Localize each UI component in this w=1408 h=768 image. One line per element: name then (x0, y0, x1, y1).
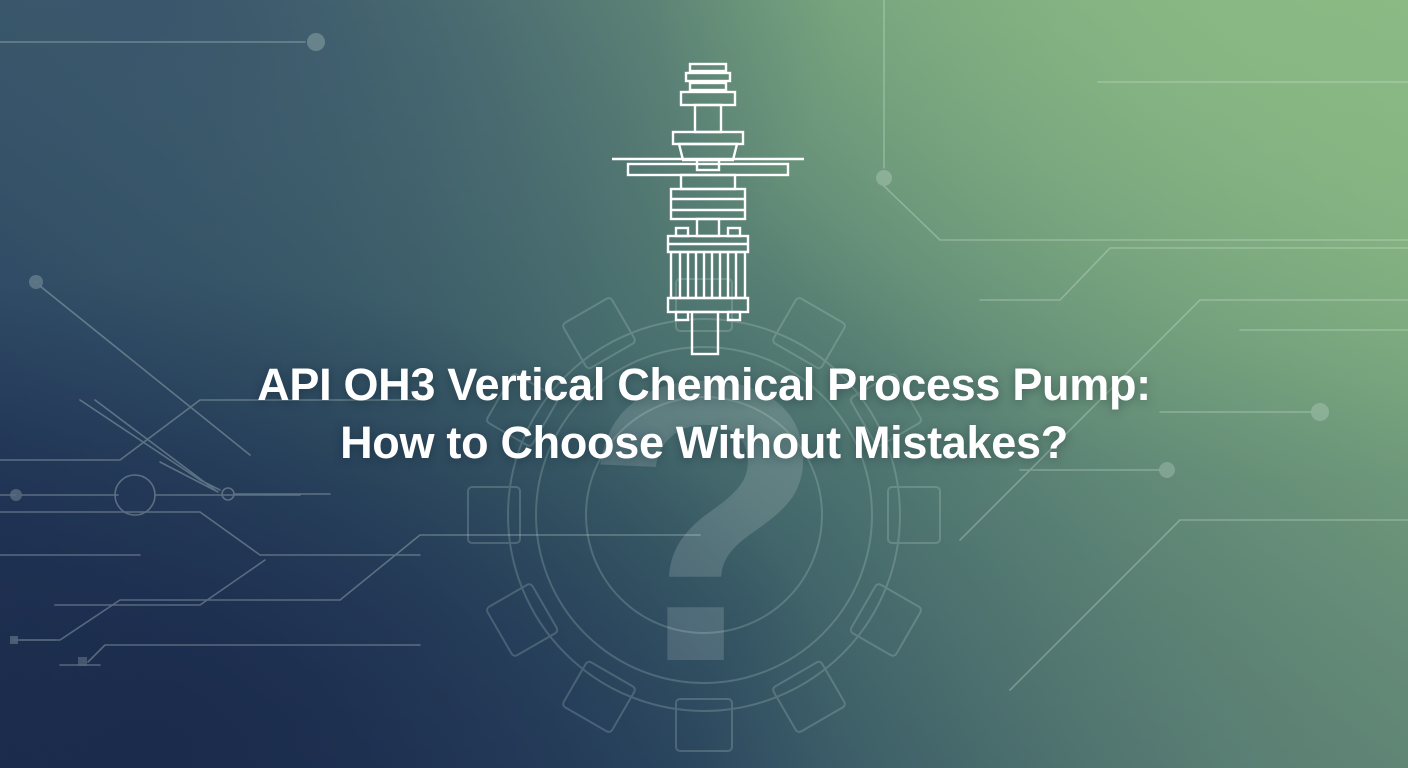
page-title-line-1: API OH3 Vertical Chemical Process Pump: (0, 356, 1408, 414)
page-title-line-2: How to Choose Without Mistakes? (0, 414, 1408, 472)
hero-banner: ? (0, 0, 1408, 768)
page-title: API OH3 Vertical Chemical Process Pump: … (0, 356, 1408, 472)
